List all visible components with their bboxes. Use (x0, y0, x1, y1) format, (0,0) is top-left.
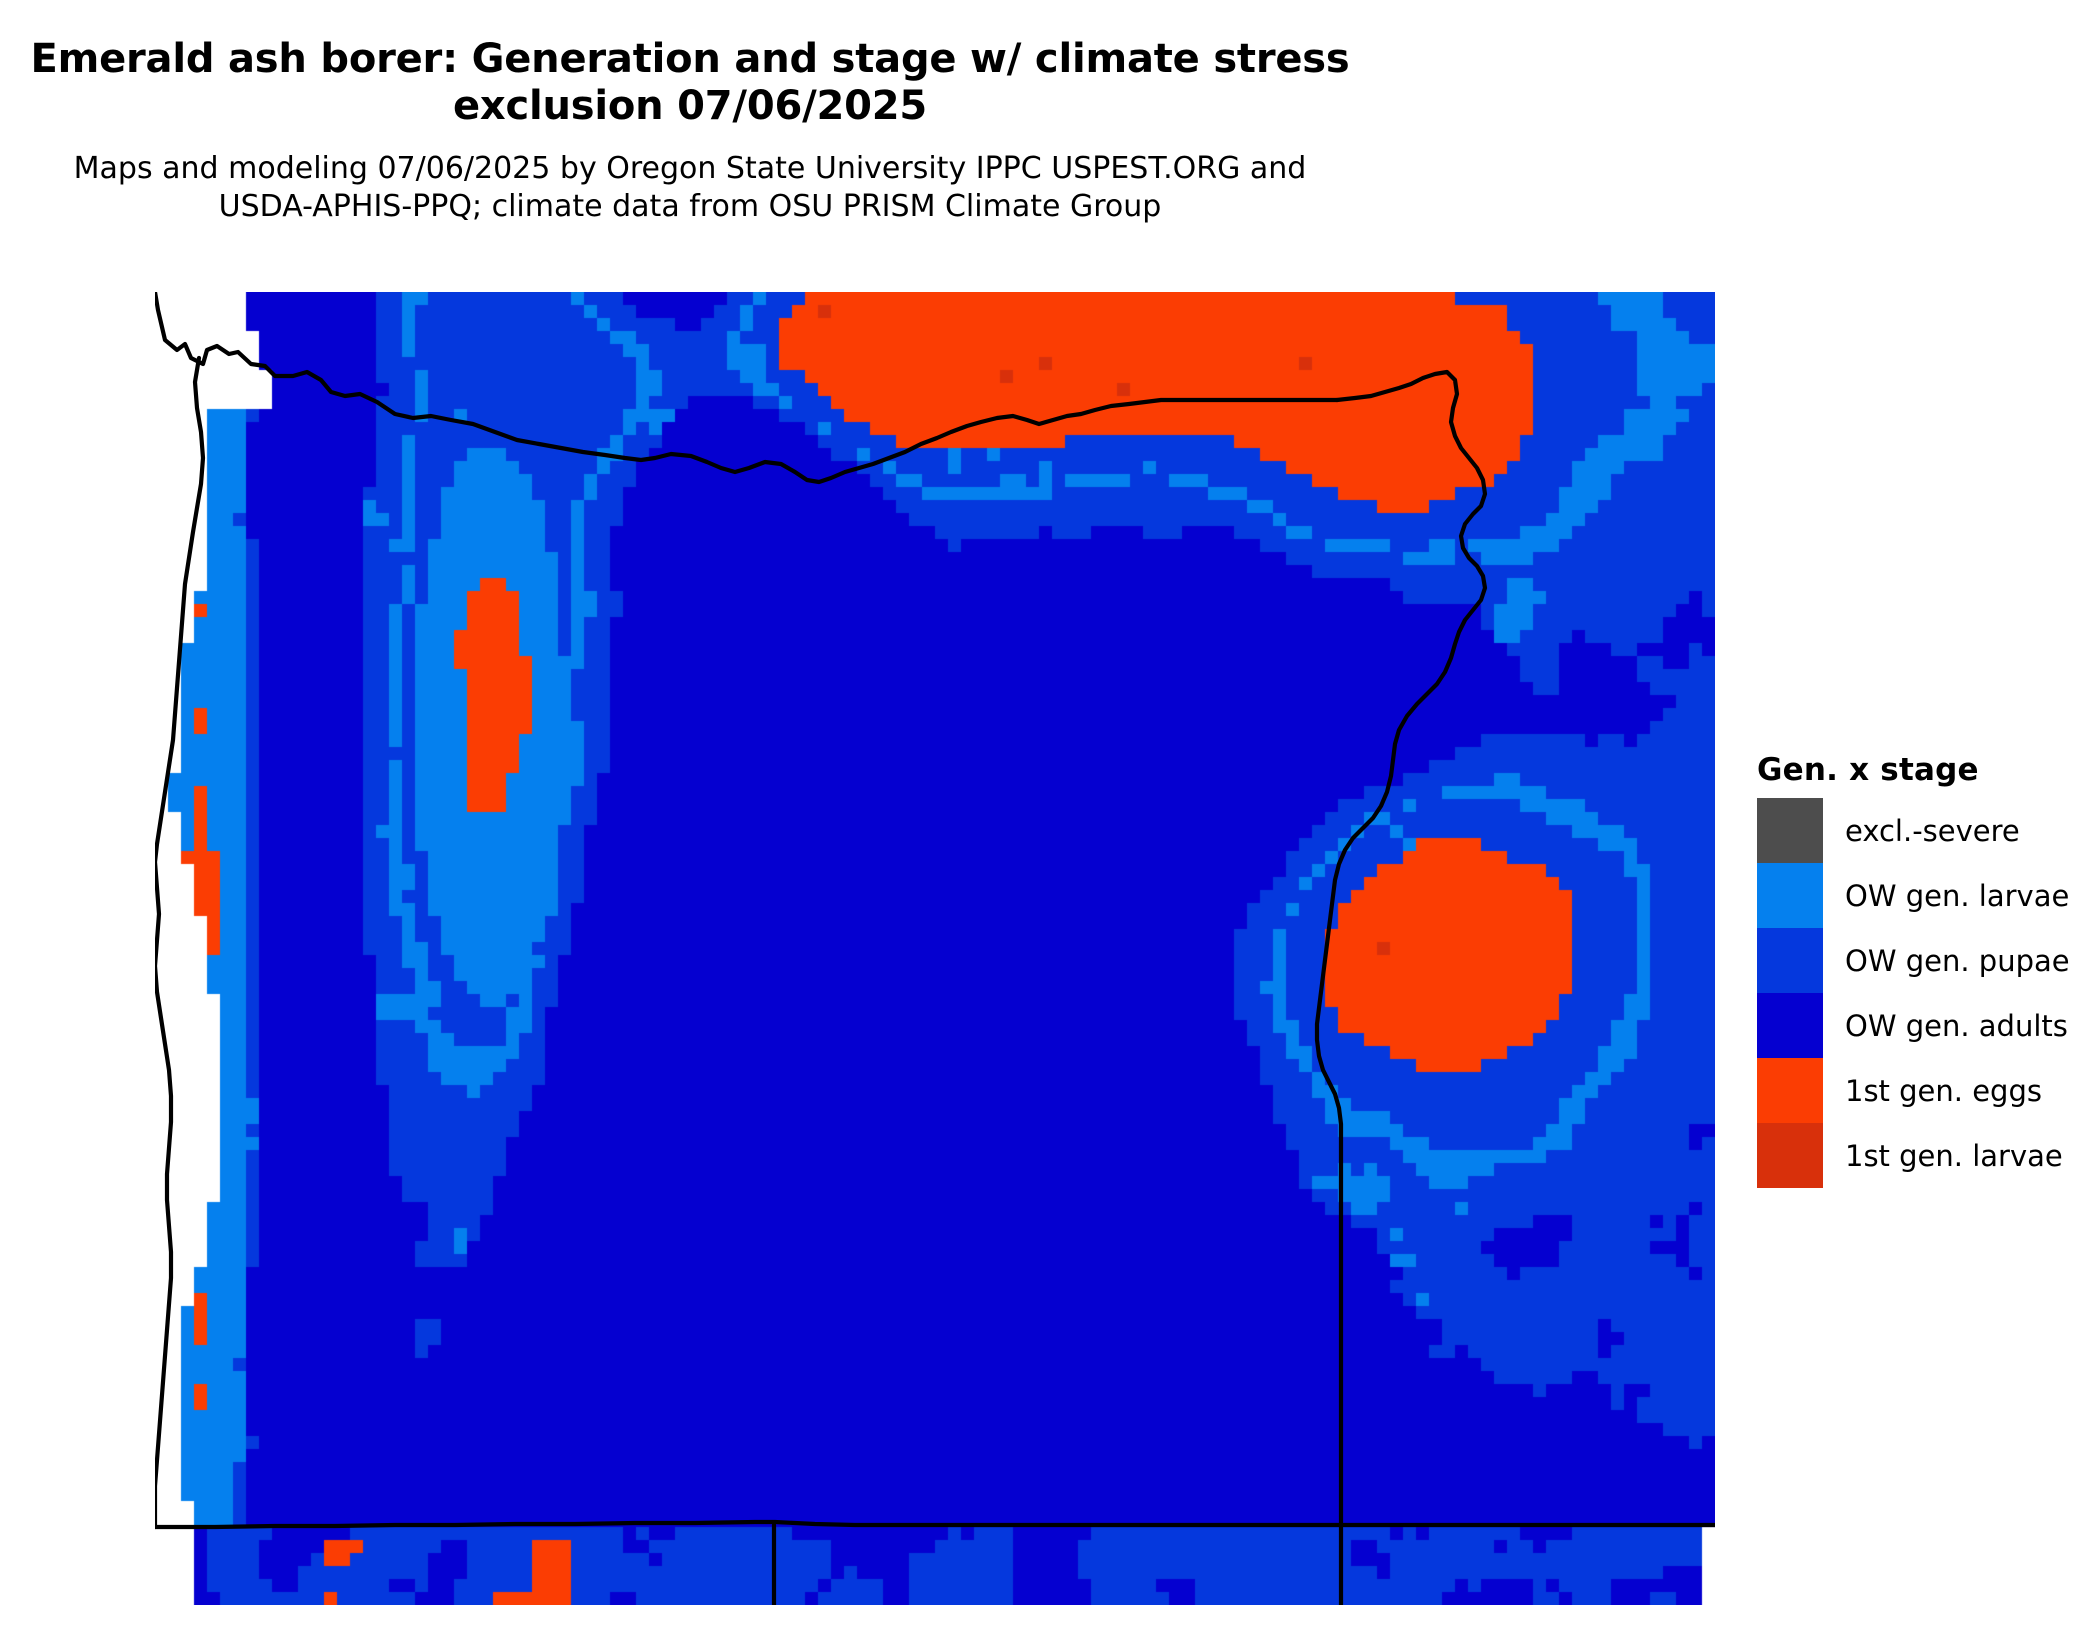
title-block: Emerald ash borer: Generation and stage … (0, 0, 1380, 227)
map-raster-layer (155, 292, 1715, 1605)
legend-item-excl-severe[interactable]: excl.-severe (1757, 798, 2087, 863)
legend-item-label: OW gen. pupae (1823, 944, 2070, 978)
legend-item-1st-gen-larvae[interactable]: 1st gen. larvae (1757, 1123, 2087, 1188)
legend-swatch-icon (1757, 1058, 1823, 1123)
legend-swatch-icon (1757, 993, 1823, 1058)
legend-swatch-icon (1757, 1123, 1823, 1188)
legend-swatch-icon (1757, 863, 1823, 928)
map-subtitle: Maps and modeling 07/06/2025 by Oregon S… (0, 130, 1380, 226)
legend-item-label: excl.-severe (1823, 814, 2020, 848)
legend-items: excl.-severe OW gen. larvae OW gen. pupa… (1757, 798, 2087, 1188)
legend-swatch-icon (1757, 798, 1823, 863)
map-panel[interactable] (155, 292, 1715, 1605)
legend: Gen. x stage excl.-severe OW gen. larvae… (1757, 752, 2087, 1188)
legend-item-label: OW gen. adults (1823, 1009, 2068, 1043)
legend-item-ow-gen-adults[interactable]: OW gen. adults (1757, 993, 2087, 1058)
legend-item-label: 1st gen. larvae (1823, 1139, 2063, 1173)
legend-item-ow-gen-pupae[interactable]: OW gen. pupae (1757, 928, 2087, 993)
legend-item-1st-gen-eggs[interactable]: 1st gen. eggs (1757, 1058, 2087, 1123)
legend-item-label: OW gen. larvae (1823, 879, 2069, 913)
legend-swatch-icon (1757, 928, 1823, 993)
legend-item-ow-gen-larvae[interactable]: OW gen. larvae (1757, 863, 2087, 928)
legend-item-label: 1st gen. eggs (1823, 1074, 2042, 1108)
page-title: Emerald ash borer: Generation and stage … (0, 0, 1380, 130)
legend-title: Gen. x stage (1757, 752, 2087, 788)
